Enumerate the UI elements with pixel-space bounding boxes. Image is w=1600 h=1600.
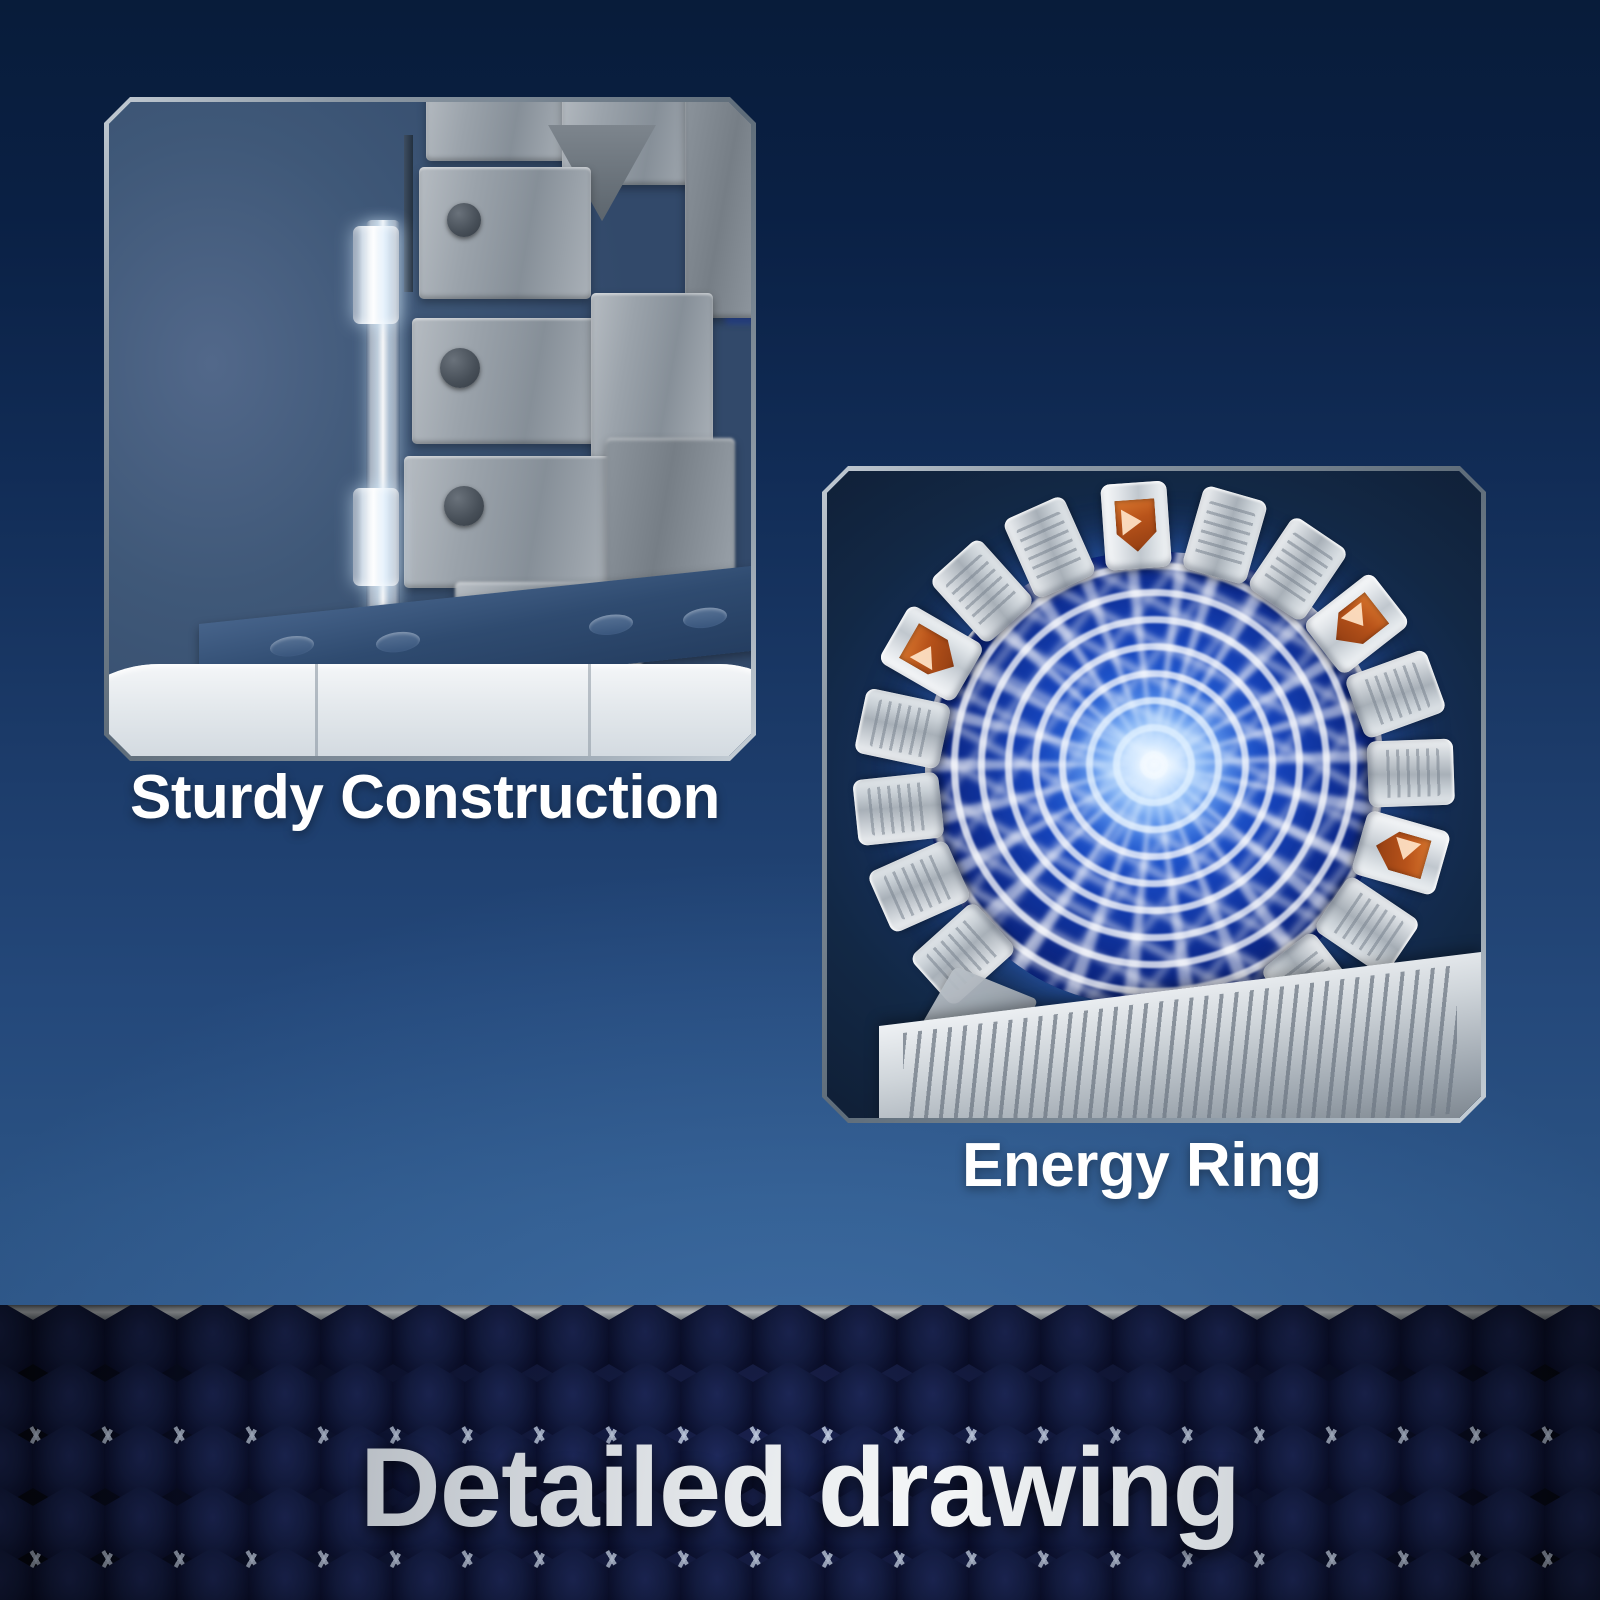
axle-pin [404,135,413,292]
panel-image-frame-ring [827,471,1481,1118]
product-feature-canvas: Sturdy Construction [0,0,1600,1600]
feature-panel-sturdy-construction[interactable] [104,97,756,761]
banner-title: Detailed drawing [0,1423,1600,1552]
product-photo-energy-ring [827,471,1481,1118]
panel-image-frame-sturdy [109,102,751,756]
baseplate-stud [376,629,420,654]
clear-rod-cap-top [353,226,399,324]
hex-cell [1544,1547,1600,1600]
brick-piece [419,167,592,299]
brick-piece [404,456,613,588]
brick-piece [591,293,713,461]
panel-caption-sturdy-construction: Sturdy Construction [130,762,720,833]
baseplate-stud [270,634,314,659]
clear-rod-cap-bottom [353,488,399,586]
brick-piece [426,102,570,161]
panel-caption-energy-ring: Energy Ring [962,1130,1322,1201]
brick-pin [444,486,484,526]
brick-pin [440,348,480,388]
feature-panel-energy-ring[interactable] [822,466,1486,1123]
bottom-banner: Detailed drawing [0,1305,1600,1600]
product-photo-sturdy-construction [109,102,751,756]
baseplate-stud [683,605,727,630]
brick-piece [685,102,751,318]
baseplate-stud [589,612,633,637]
brick-piece [412,318,606,444]
white-platform [109,664,751,756]
